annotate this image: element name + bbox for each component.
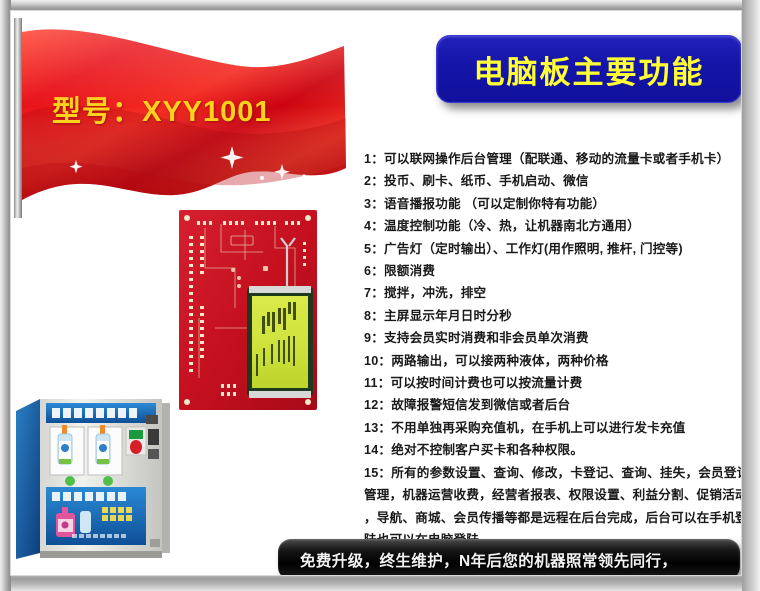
title-banner-text: 电脑板主要功能 (474, 47, 705, 92)
feature-item: 10：两路输出，可以接两种液体，两种价格 (364, 350, 744, 372)
bottom-banner: 免费升级，终生维护，N年后您的机器照常领先同行， (278, 539, 740, 580)
feature-item: 6：限额消费 (364, 260, 744, 282)
title-banner: 电脑板主要功能 (436, 35, 742, 103)
feature-item: 8：主屏显示年月日时分秒 (364, 305, 744, 327)
frame-left-edge (0, 0, 11, 591)
feature-item: 3：语音播报功能 （可以定制你特有功能） (364, 193, 744, 215)
vending-machine-photo (14, 393, 176, 561)
control-board-photo (175, 208, 323, 413)
frame-right-edge (742, 0, 760, 591)
feature-item: 2：投币、刷卡、纸币、手机启动、微信 (364, 170, 744, 192)
feature-item: 12：故障报警短信发到微信或者后台 (364, 394, 744, 416)
feature-list: 1：可以联网操作后台管理（配联通、移动的流量卡或者手机卡） 2：投币、刷卡、纸币… (364, 148, 744, 551)
poster-canvas: 型号：XYY1001 (0, 0, 760, 591)
feature-item: 7：搅拌，冲洗，排空 (364, 282, 744, 304)
red-flag-image: 型号：XYY1001 (14, 18, 354, 218)
feature-item-continuation: ，导航、商城、会员传播等都是远程在后台完成，后台可以在手机登 (364, 507, 744, 529)
feature-item: 1：可以联网操作后台管理（配联通、移动的流量卡或者手机卡） (364, 148, 744, 170)
bottom-banner-text: 免费升级，终生维护，N年后您的机器照常领先同行， (278, 549, 677, 571)
feature-item: 11：可以按时间计费也可以按流量计费 (364, 372, 744, 394)
feature-item: 4：温度控制功能（冷、热，让机器南北方通用） (364, 215, 744, 237)
feature-item-continuation: 管理，机器运营收费，经营者报表、权限设置、利益分割、促销活动 (364, 484, 744, 506)
feature-item: 5：广告灯（定时输出）、工作灯(用作照明, 推杆, 门控等) (364, 238, 744, 260)
feature-item: 13：不用单独再采购充值机，在手机上可以进行发卡充值 (364, 417, 744, 439)
frame-top-edge (0, 0, 760, 11)
feature-item: 15：所有的参数设置、查询、修改，卡登记、查询、挂失，会员登记 (364, 462, 744, 484)
feature-item: 9：支持会员实时消费和非会员单次消费 (364, 327, 744, 349)
model-number-label: 型号：XYY1001 (52, 88, 272, 130)
feature-item: 14：绝对不控制客户买卡和各种权限。 (364, 439, 744, 461)
